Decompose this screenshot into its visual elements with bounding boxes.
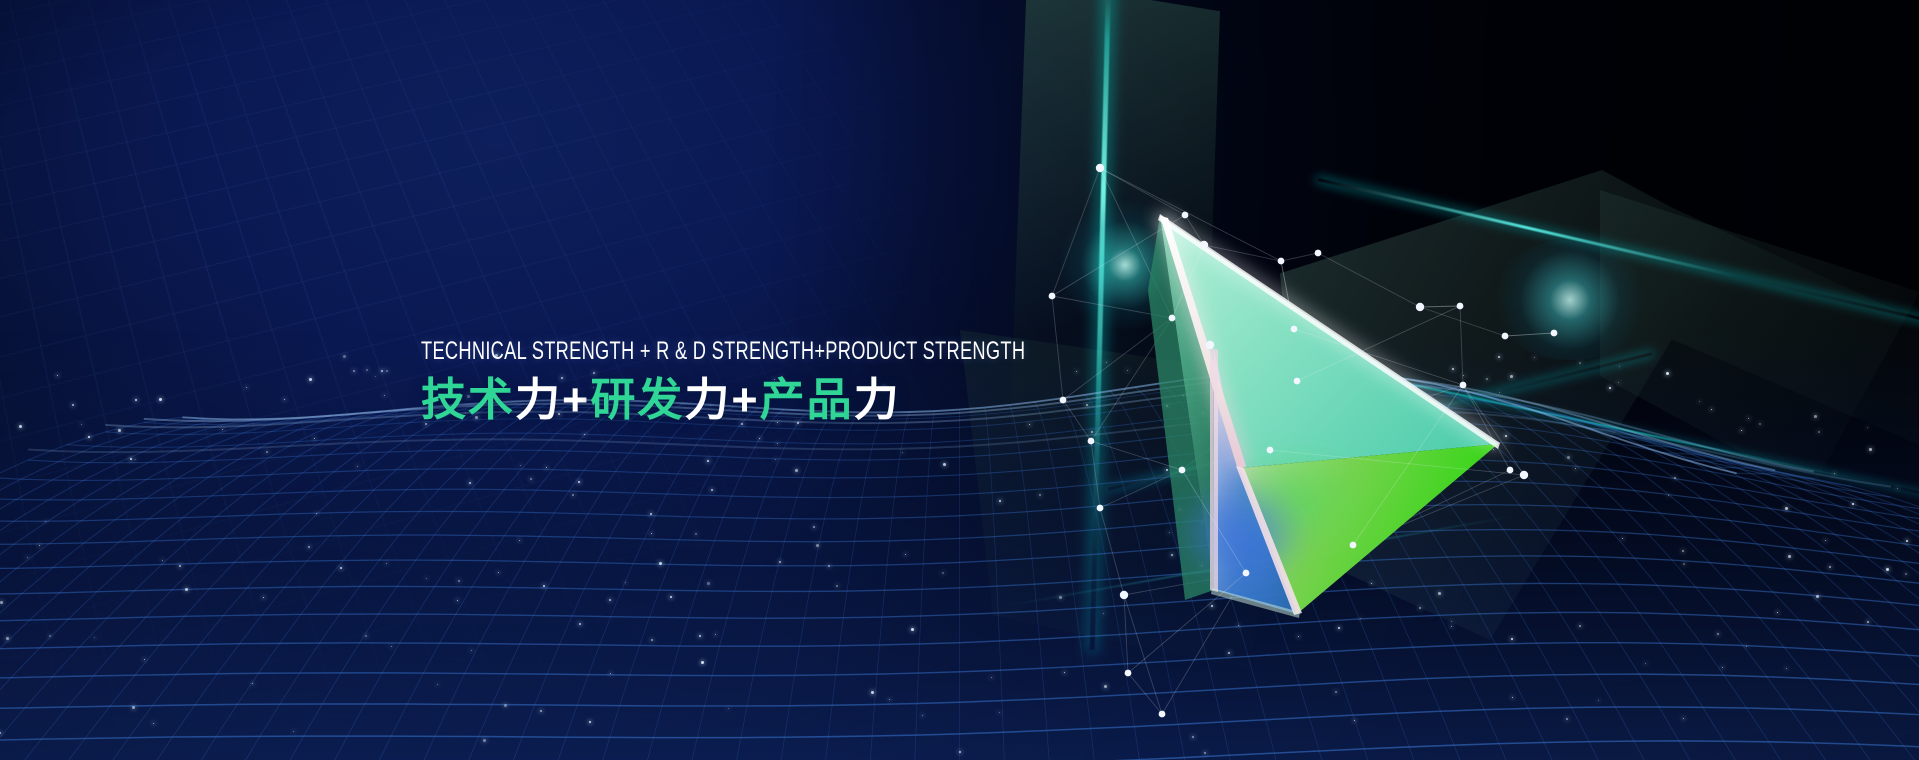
headline-cn-plus-1: + [562, 374, 590, 425]
headline-chinese: 技术力+研发力+产品力 [421, 372, 1249, 428]
headline-cn-part-5: 产品 [760, 374, 854, 425]
headline-english: TECHNICAL STRENGTH + R & D STRENGTH+PROD… [421, 337, 1025, 366]
headline-cn-part-1: 技术 [421, 374, 515, 425]
headline-cn-plus-2: + [731, 374, 759, 425]
headline-block: TECHNICAL STRENGTH + R & D STRENGTH+PROD… [421, 337, 1249, 428]
headline-cn-part-6: 力 [854, 374, 901, 425]
headline-cn-part-3: 研发 [590, 374, 684, 425]
headline-cn-part-2: 力 [515, 374, 562, 425]
headline-cn-part-4: 力 [684, 374, 731, 425]
hero-banner: TECHNICAL STRENGTH + R & D STRENGTH+PROD… [0, 0, 1919, 760]
